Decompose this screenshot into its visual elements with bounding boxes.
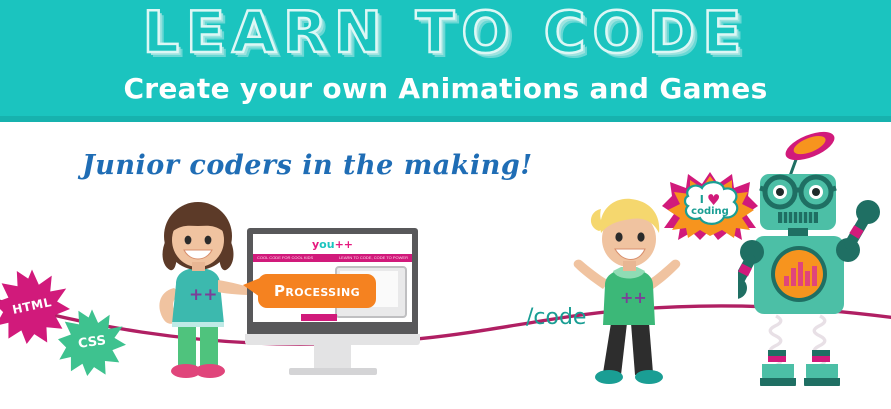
learn-to-code-banner: LEARN TO CODE Create your own Animations…: [0, 0, 891, 409]
badge-css: CSS: [58, 308, 126, 376]
character-robot: [738, 128, 890, 386]
logo-part-ou: ou: [319, 238, 334, 251]
heart-icon: ♥: [707, 195, 720, 206]
page-subtitle: Create your own Animations and Games: [0, 72, 891, 105]
processing-label: Processing: [258, 274, 376, 308]
header-band: LEARN TO CODE Create your own Animations…: [0, 0, 891, 122]
svg-text:++: ++: [189, 285, 218, 305]
monitor-stand-base: [289, 368, 377, 375]
site-logo: you++: [253, 238, 412, 251]
navbar-left-text: COOL CODE FOR COOL KIDS: [257, 255, 313, 260]
logo-part-plus: ++: [335, 238, 353, 251]
site-navbar[interactable]: COOL CODE FOR COOL KIDS LEARN TO CODE, C…: [253, 254, 412, 262]
page-title: LEARN TO CODE: [0, 2, 891, 64]
cta-button[interactable]: [301, 314, 337, 321]
monitor-stand-neck: [314, 343, 351, 371]
starburst-icon: [58, 308, 126, 376]
coding-badge-i: I: [700, 194, 704, 206]
navbar-right-text: LEARN TO CODE, CODE TO POWER: [339, 255, 408, 260]
coding-badge-word: coding: [691, 206, 729, 218]
processing-speech-bubble: Processing: [258, 274, 376, 308]
coding-badge-text: I ♥ coding: [676, 186, 744, 226]
svg-text:++: ++: [620, 288, 647, 307]
